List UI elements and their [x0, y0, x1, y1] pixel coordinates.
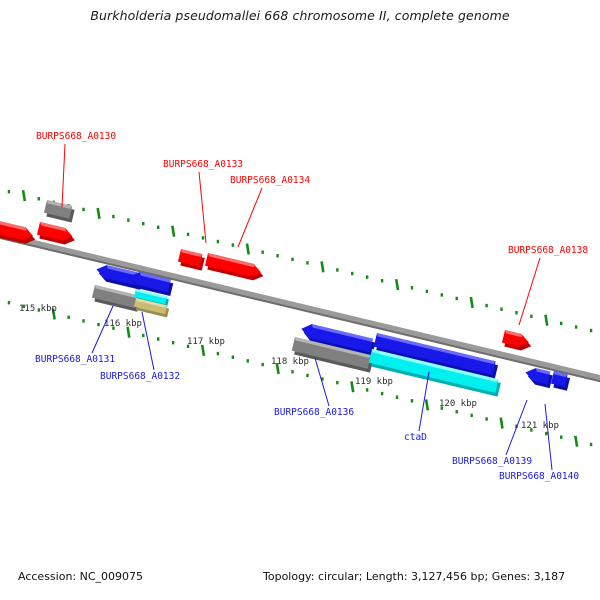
scale-tick-label: 118 kbp	[271, 357, 309, 367]
scale-major-tick	[499, 417, 503, 428]
scale-minor-tick	[217, 352, 219, 355]
scale-tick-label: 120 kbp	[439, 399, 477, 409]
label-leader-line	[142, 312, 154, 370]
scale-minor-tick	[411, 399, 413, 402]
scale-minor-tick	[515, 311, 517, 314]
scale-minor-tick	[291, 258, 293, 261]
scale-minor-tick	[261, 363, 263, 366]
scale-minor-tick	[291, 370, 293, 373]
scale-minor-tick	[456, 297, 458, 300]
scale-minor-tick	[38, 197, 40, 200]
scale-minor-tick	[396, 396, 398, 399]
tick-row-lower	[0, 297, 600, 449]
scale-minor-tick	[82, 319, 84, 322]
scale-major-tick	[425, 399, 429, 410]
scale-minor-tick	[426, 290, 428, 293]
label-leader-line	[92, 306, 113, 353]
scale-minor-tick	[336, 268, 338, 271]
scale-tick-label: 119 kbp	[355, 377, 393, 387]
scale-minor-tick	[232, 243, 234, 246]
scale-major-tick	[395, 279, 399, 290]
scale-minor-tick	[351, 272, 353, 275]
feature-label[interactable]: BURPS668_A0139	[452, 456, 532, 467]
scale-major-tick	[320, 261, 324, 272]
scale-minor-tick	[247, 359, 249, 362]
scale-minor-tick	[381, 279, 383, 282]
scale-minor-tick	[411, 286, 413, 289]
scale-minor-tick	[172, 341, 174, 344]
scale-minor-tick	[276, 254, 278, 257]
genome-map-canvas[interactable]: 115 kbp116 kbp117 kbp118 kbp119 kbp120 k…	[0, 0, 600, 600]
scale-tick-label: 116 kbp	[104, 319, 142, 329]
scale-minor-tick	[485, 417, 487, 420]
scale-minor-tick	[157, 226, 159, 229]
scale-minor-tick	[545, 432, 547, 435]
scale-minor-tick	[217, 240, 219, 243]
scale-minor-tick	[336, 381, 338, 384]
accession-text: Accession: NC_009075	[18, 570, 143, 583]
label-leader-line	[545, 404, 552, 470]
scale-minor-tick	[590, 329, 592, 332]
status-bar: Accession: NC_009075 Topology: circular;…	[0, 570, 600, 592]
scale-minor-tick	[366, 275, 368, 278]
scale-tick-label: 117 kbp	[187, 337, 225, 347]
scale-minor-tick	[127, 218, 129, 221]
scale-minor-tick	[575, 325, 577, 328]
feature-label[interactable]: BURPS668_A0138	[508, 245, 588, 256]
scale-minor-tick	[261, 251, 263, 254]
genome-stats-text: Topology: circular; Length: 3,127,456 bp…	[263, 570, 565, 583]
scale-major-tick	[574, 436, 578, 447]
gene-feature[interactable]	[43, 200, 75, 223]
gene-features	[0, 200, 571, 397]
scale-minor-tick	[590, 443, 592, 446]
gene-feature[interactable]	[204, 253, 265, 283]
scale-minor-tick	[560, 436, 562, 439]
feature-label[interactable]: BURPS668_A0140	[499, 471, 579, 482]
feature-label[interactable]: BURPS668_A0134	[230, 175, 310, 186]
scale-major-tick	[470, 297, 474, 308]
genome-viewer: Burkholderia pseudomallei 668 chromosome…	[0, 0, 600, 600]
label-leader-line	[199, 172, 206, 243]
scale-minor-tick	[8, 190, 10, 193]
scale-minor-tick	[456, 410, 458, 413]
feature-label[interactable]: BURPS668_A0131	[35, 354, 115, 365]
scale-minor-tick	[202, 236, 204, 239]
label-leader-line	[519, 258, 540, 325]
scale-minor-tick	[530, 315, 532, 318]
scale-minor-tick	[157, 337, 159, 340]
scale-minor-tick	[306, 261, 308, 264]
feature-label[interactable]: BURPS668_A0132	[100, 371, 180, 382]
feature-label[interactable]: ctaD	[404, 432, 427, 443]
scale-tick-label: 115 kbp	[19, 304, 57, 314]
scale-minor-tick	[97, 323, 99, 326]
scale-major-tick	[171, 226, 175, 237]
scale-minor-tick	[112, 215, 114, 218]
scale-minor-tick	[306, 374, 308, 377]
scale-minor-tick	[560, 322, 562, 325]
scale-minor-tick	[67, 316, 69, 319]
feature-label[interactable]: BURPS668_A0130	[36, 131, 116, 142]
gene-feature[interactable]	[501, 330, 533, 353]
feature-label[interactable]: BURPS668_A0133	[163, 159, 243, 170]
scale-minor-tick	[500, 307, 502, 310]
scale-minor-tick	[82, 208, 84, 211]
label-leader-line	[62, 144, 65, 207]
scale-major-tick	[96, 208, 100, 219]
tick-row-upper	[0, 186, 600, 335]
gene-feature[interactable]	[177, 249, 205, 271]
scale-minor-tick	[470, 414, 472, 417]
scale-minor-tick	[142, 334, 144, 337]
label-leader-line	[315, 358, 329, 406]
scale-minor-tick	[381, 392, 383, 395]
scale-major-tick	[350, 381, 354, 392]
scale-major-tick	[22, 190, 26, 201]
label-leader-line	[238, 188, 262, 247]
scale-minor-tick	[232, 356, 234, 359]
scale-major-tick	[544, 315, 548, 326]
scale-minor-tick	[485, 304, 487, 307]
scale-minor-tick	[142, 222, 144, 225]
scale-minor-tick	[8, 301, 10, 304]
scale-minor-tick	[366, 388, 368, 391]
scale-minor-tick	[187, 233, 189, 236]
gene-feature[interactable]	[91, 285, 141, 312]
scale-minor-tick	[441, 293, 443, 296]
scale-major-tick	[246, 243, 250, 254]
scale-tick-label: 121 kbp	[521, 421, 559, 431]
feature-label[interactable]: BURPS668_A0136	[274, 407, 354, 418]
